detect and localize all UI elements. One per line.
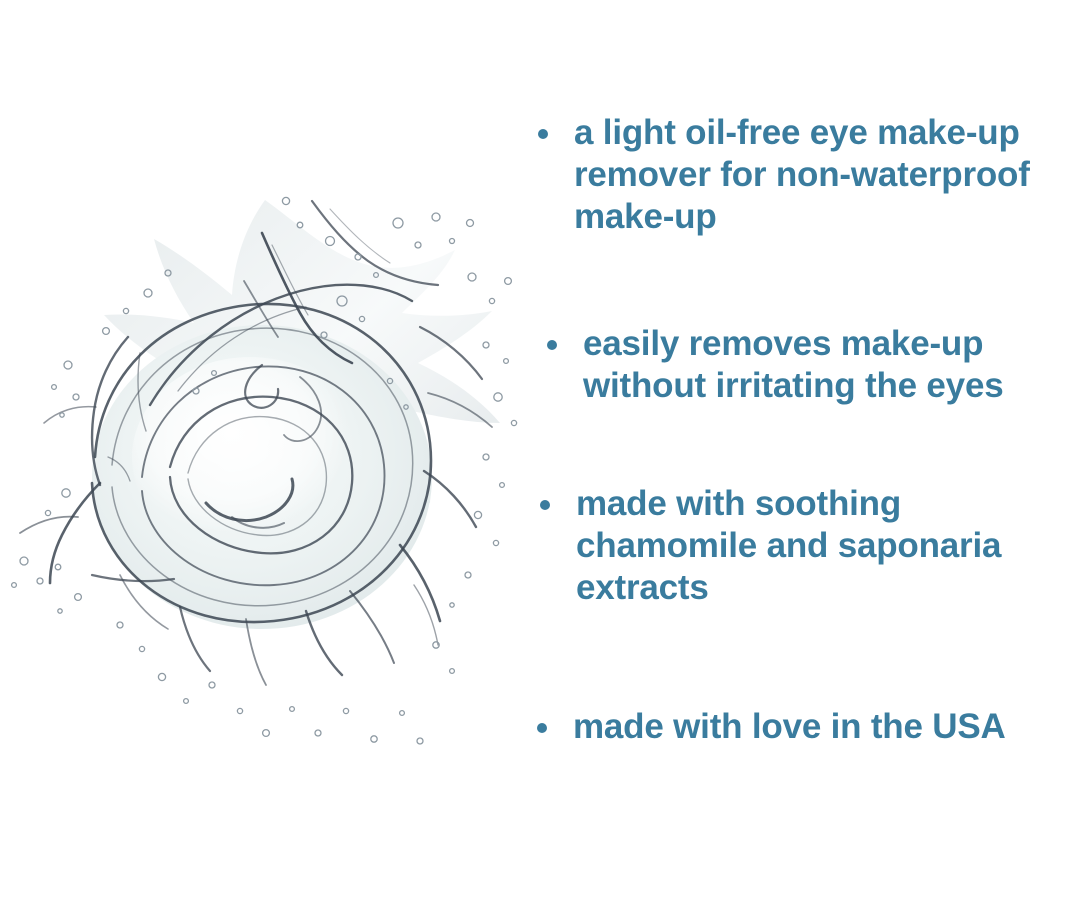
benefit-text-2: easily removes make-up without irritatin… [557, 323, 1056, 407]
benefit-item-3: made with soothing chamomile and saponar… [540, 483, 1056, 609]
water-splash-image [0, 105, 530, 805]
benefit-text-4: made with love in the USA [547, 706, 1056, 748]
benefits-list: a light oil-free eye make-up remover for… [528, 112, 1056, 748]
bullet-dot-icon [547, 340, 557, 350]
benefit-text-3: made with soothing chamomile and saponar… [550, 483, 1056, 609]
benefit-text-1: a light oil-free eye make-up remover for… [548, 112, 1056, 238]
bullet-dot-icon [538, 129, 548, 139]
splash-body [20, 200, 500, 685]
bullet-dot-icon [540, 500, 550, 510]
product-feature-panel: a light oil-free eye make-up remover for… [0, 0, 1069, 913]
benefit-item-4: made with love in the USA [537, 706, 1056, 748]
benefit-item-1: a light oil-free eye make-up remover for… [538, 112, 1056, 238]
water-splash-svg [0, 105, 530, 805]
bullet-dot-icon [537, 723, 547, 733]
benefit-item-2: easily removes make-up without irritatin… [547, 323, 1056, 407]
